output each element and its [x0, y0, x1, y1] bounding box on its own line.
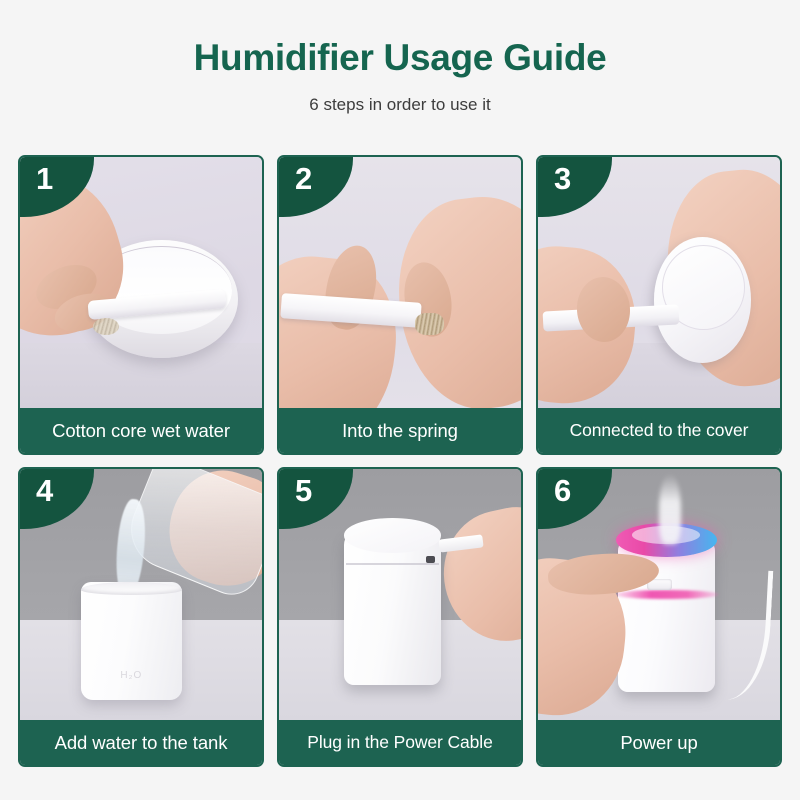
step-photo-1: 1: [20, 157, 262, 408]
step-card-5[interactable]: 5 Plug in the Power Cable: [277, 467, 523, 767]
step-caption-2: Into the spring: [279, 408, 521, 453]
step-caption-3: Connected to the cover: [538, 408, 780, 453]
page-title: Humidifier Usage Guide: [0, 38, 800, 79]
step-photo-5: 5: [279, 469, 521, 720]
tank-rim: [81, 582, 183, 595]
step-photo-4: H₂O 4: [20, 469, 262, 720]
header: Humidifier Usage Guide 6 steps in order …: [0, 0, 800, 115]
step-number-5: 5: [295, 475, 312, 506]
step-caption-5: Plug in the Power Cable: [279, 720, 521, 765]
step-card-4[interactable]: H₂O 4 Add water to the tank: [18, 467, 264, 767]
step-card-3[interactable]: 3 Connected to the cover: [536, 155, 782, 455]
step-card-6[interactable]: 6 Power up: [536, 467, 782, 767]
step-photo-2: 2: [279, 157, 521, 408]
infographic-page: Humidifier Usage Guide 6 steps in order …: [0, 0, 800, 800]
usb-port: [426, 556, 436, 564]
humidifier-top-5: [344, 518, 441, 552]
step-photo-3: 3: [538, 157, 780, 408]
step-photo-6: 6: [538, 469, 780, 720]
step-caption-1: Cotton core wet water: [20, 408, 262, 453]
page-subtitle: 6 steps in order to use it: [0, 95, 800, 115]
steps-grid: 1 Cotton core wet water 2 Into the sprin…: [18, 155, 782, 767]
water-tank: H₂O: [81, 582, 183, 700]
humidifier-cover: [654, 237, 751, 363]
step-number-3: 3: [554, 163, 571, 194]
step-caption-6: Power up: [538, 720, 780, 765]
spring-coil-2: [415, 313, 444, 336]
step-number-6: 6: [554, 475, 571, 506]
step-card-1[interactable]: 1 Cotton core wet water: [18, 155, 264, 455]
step-card-2[interactable]: 2 Into the spring: [277, 155, 523, 455]
step-number-4: 4: [36, 475, 53, 506]
mist-plume: [659, 474, 681, 544]
step-number-1: 1: [36, 163, 53, 194]
tank-h2o-label: H₂O: [81, 670, 183, 681]
humidifier-body-5: [344, 529, 441, 685]
humidifier-seam-5: [346, 563, 439, 565]
step-number-2: 2: [295, 163, 312, 194]
step-caption-4: Add water to the tank: [20, 720, 262, 765]
